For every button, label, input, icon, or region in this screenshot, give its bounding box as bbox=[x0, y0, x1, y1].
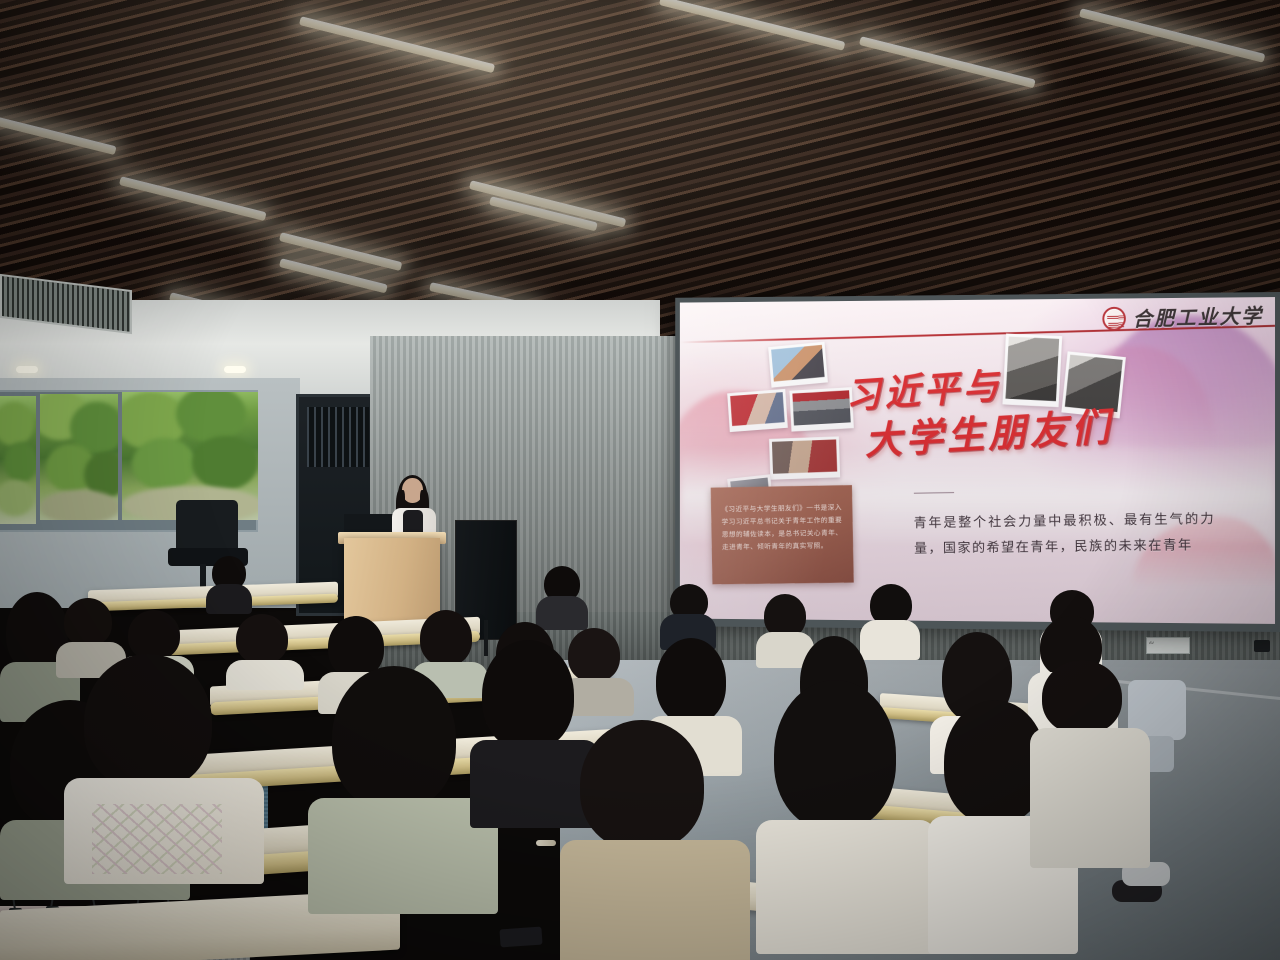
office-chair-back[interactable] bbox=[176, 500, 238, 554]
slide-quote: 青年是整个社会力量中最积极、最有生气的力量，国家的希望在青年，民族的未来在青年 bbox=[913, 506, 1215, 562]
window-pane bbox=[40, 394, 118, 520]
window-wall bbox=[0, 378, 300, 608]
slide-caption-text: 《习近平与大学生朋友们》一书是深入学习习近平总书记关于青年工作的重要思想的辅佐读… bbox=[721, 502, 842, 555]
photo-leader-greeting-crowd bbox=[768, 342, 828, 388]
av-wall-plate[interactable]: AV bbox=[1146, 637, 1190, 654]
university-seal-icon bbox=[1102, 306, 1126, 330]
ceiling-light bbox=[279, 258, 388, 293]
slide-caption-box: 《习近平与大学生朋友们》一书是深入学习习近平总书记关于青年工作的重要思想的辅佐读… bbox=[711, 485, 854, 584]
list-item bbox=[560, 720, 750, 960]
door-grille-icon bbox=[307, 407, 369, 467]
photo-auditorium-assembly bbox=[789, 387, 853, 431]
list-item bbox=[536, 566, 588, 626]
smartphone[interactable] bbox=[499, 927, 542, 948]
ceiling-light bbox=[469, 180, 626, 227]
lecture-hall-scene: AV 合肥工业大学 bbox=[0, 0, 1280, 960]
garment-pattern bbox=[92, 804, 222, 874]
recessed-downlight bbox=[16, 366, 38, 373]
list-item bbox=[1030, 660, 1150, 860]
bracelet bbox=[536, 840, 556, 846]
ceiling-light bbox=[0, 110, 117, 155]
ceiling-light bbox=[1079, 8, 1266, 63]
photo-red-banner-ceremony bbox=[727, 389, 788, 432]
photo-historic-young-woman bbox=[1002, 334, 1062, 408]
university-name: 合肥工业大学 bbox=[1132, 300, 1263, 332]
wall-jack-icon[interactable] bbox=[1254, 640, 1270, 652]
ceiling-light bbox=[859, 36, 1036, 88]
projection-screen[interactable]: 合肥工业大学 习近 bbox=[675, 292, 1280, 632]
ceiling-light bbox=[659, 0, 846, 51]
list-item bbox=[64, 654, 264, 874]
photo-group-visit bbox=[769, 436, 840, 479]
window-pane bbox=[0, 396, 36, 524]
university-logo: 合肥工业大学 bbox=[1102, 300, 1263, 333]
ceiling-light bbox=[119, 176, 267, 221]
list-item bbox=[660, 584, 716, 646]
ceiling-light bbox=[279, 232, 402, 271]
ceiling-light bbox=[489, 196, 598, 231]
presentation-slide: 合肥工业大学 习近 bbox=[680, 297, 1275, 624]
recessed-downlight bbox=[224, 366, 246, 373]
list-item bbox=[206, 556, 252, 608]
list-item bbox=[756, 680, 936, 950]
ceiling-light bbox=[299, 16, 495, 73]
